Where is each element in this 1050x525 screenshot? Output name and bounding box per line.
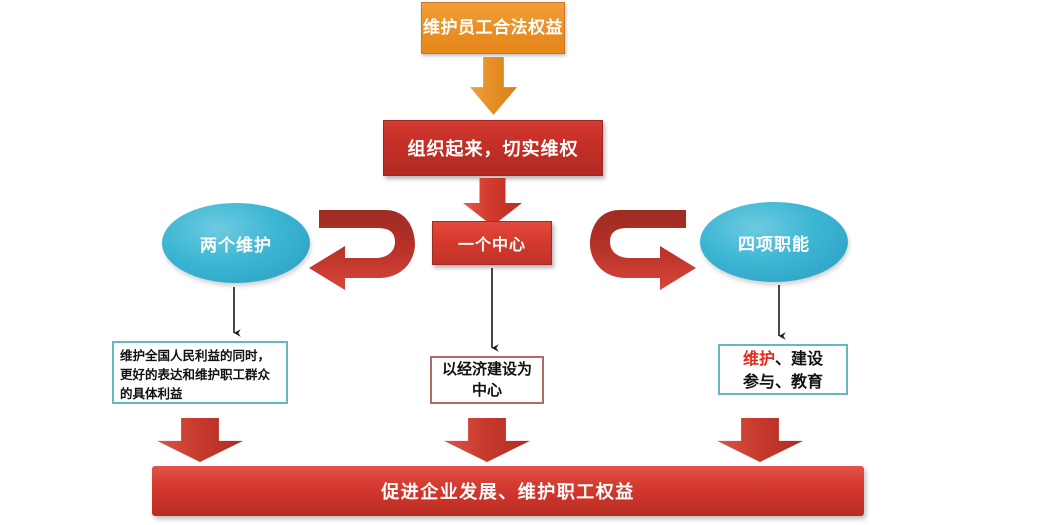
detail-box-left[interactable]: 维护全国人民利益的同时， 更好的表达和维护职工群众 的具体利益 xyxy=(112,341,288,404)
detail-box-right[interactable]: 维护、建设 参与、教育 xyxy=(718,344,848,395)
ellipse-four-functions[interactable]: 四项职能 xyxy=(700,202,848,282)
detail-left-line3: 的具体利益 xyxy=(120,384,282,403)
detail-box-center[interactable]: 以经济建设为 中心 xyxy=(430,356,544,404)
detail-left-line1: 维护全国人民利益的同时， xyxy=(120,346,282,365)
node-one-center-label: 一个中心 xyxy=(458,231,526,255)
detail-center-line1: 以经济建设为 xyxy=(442,359,532,380)
arrow-down-red-right-icon xyxy=(717,418,803,462)
top-node-label: 维护员工合法权益 xyxy=(423,16,563,41)
node-organize-label: 组织起来，切实维权 xyxy=(408,135,579,161)
bottom-banner-label: 促进企业发展、维护职工权益 xyxy=(381,478,635,504)
bottom-banner-goal[interactable]: 促进企业发展、维护职工权益 xyxy=(152,466,864,516)
node-organize-and-defend[interactable]: 组织起来，切实维权 xyxy=(383,120,603,176)
ellipse-left-label: 两个维护 xyxy=(200,231,272,256)
top-node-employee-rights[interactable]: 维护员工合法权益 xyxy=(421,2,565,54)
ellipse-two-safeguards[interactable]: 两个维护 xyxy=(162,203,310,283)
arrow-down-red-icon xyxy=(463,178,522,226)
ellipse-right-label: 四项职能 xyxy=(738,230,810,255)
arrow-down-red-center-icon xyxy=(444,418,530,462)
detail-center-line2: 中心 xyxy=(472,380,502,401)
detail-right-line1-rest: 、建设 xyxy=(775,349,823,368)
detail-right-line1-accent: 维护 xyxy=(743,349,775,368)
detail-right-line1: 维护、建设 xyxy=(743,347,823,370)
flowchart-canvas: 维护员工合法权益 组织起来，切实维权 两个维护 一个中心 xyxy=(0,0,1050,525)
detail-right-line2: 参与、教育 xyxy=(743,370,823,393)
curved-arrow-right-icon xyxy=(588,198,700,290)
detail-left-line2: 更好的表达和维护职工群众 xyxy=(120,365,282,384)
curved-arrow-left-icon xyxy=(305,198,417,290)
arrow-down-orange-icon xyxy=(470,57,517,115)
arrow-down-red-left-icon xyxy=(157,418,243,462)
node-one-center[interactable]: 一个中心 xyxy=(432,221,552,265)
